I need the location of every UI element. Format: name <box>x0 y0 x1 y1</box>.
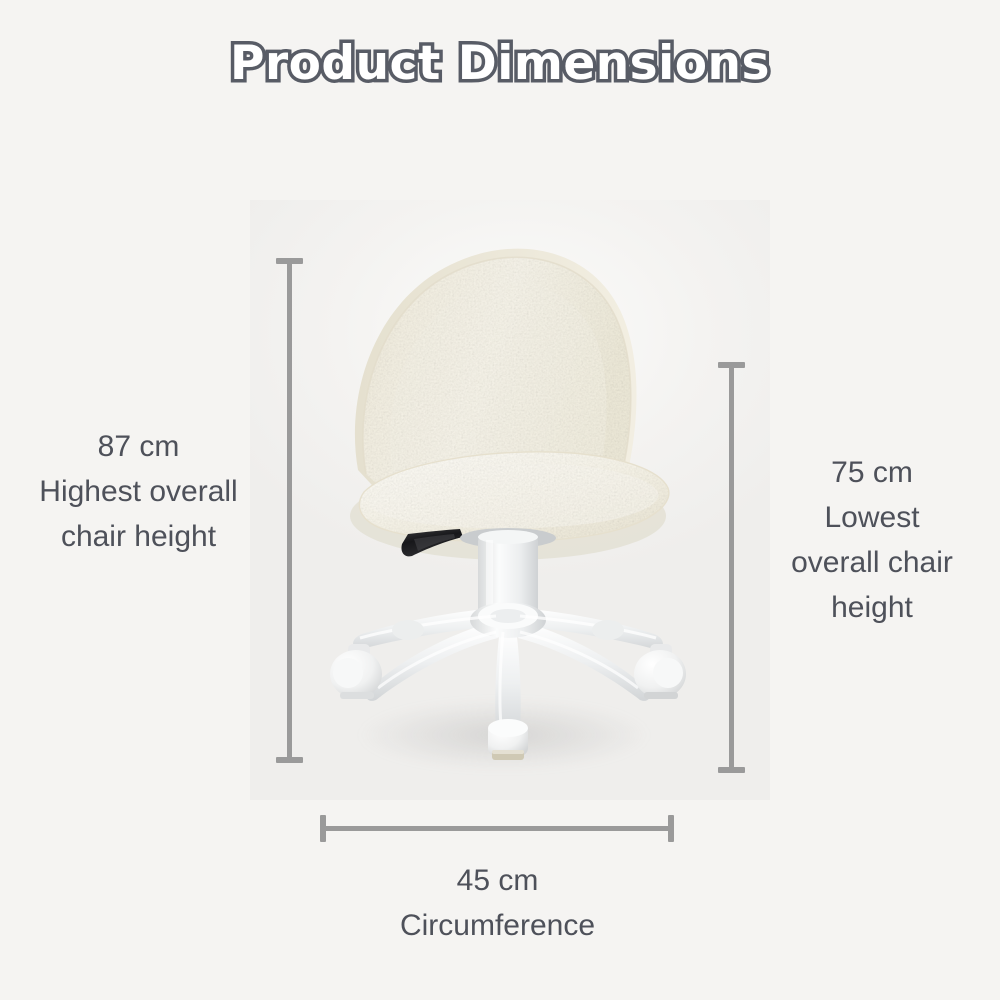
caster-wheel <box>392 620 424 640</box>
dimension-cap-right-bottom <box>718 767 745 773</box>
dimension-cap-bottom-left <box>320 815 326 842</box>
dimension-label-lowest-height: 75 cm Lowest overall chair height <box>752 450 992 630</box>
dimension-line-bottom-horizontal <box>322 826 672 831</box>
caster-wheel <box>330 644 382 699</box>
product-image-office-chair <box>300 230 720 790</box>
product-dimensions-page: Product Dimensions <box>0 0 1000 1000</box>
dimension-label-circumference: 45 cm Circumference <box>320 858 675 948</box>
dimension-cap-bottom-right <box>668 815 674 842</box>
caster-wheel <box>488 719 528 760</box>
dimension-label-highest-height: 87 cm Highest overall chair height <box>6 424 271 559</box>
dimension-cap-right-top <box>718 362 745 368</box>
caster-wheel <box>634 644 686 699</box>
caster-wheel <box>592 620 624 640</box>
dimension-line-left-vertical <box>287 262 292 762</box>
dimension-line-right-vertical <box>729 366 734 772</box>
dimension-cap-left-bottom <box>276 757 303 763</box>
dimension-cap-left-top <box>276 258 303 264</box>
page-title: Product Dimensions <box>0 36 1000 91</box>
